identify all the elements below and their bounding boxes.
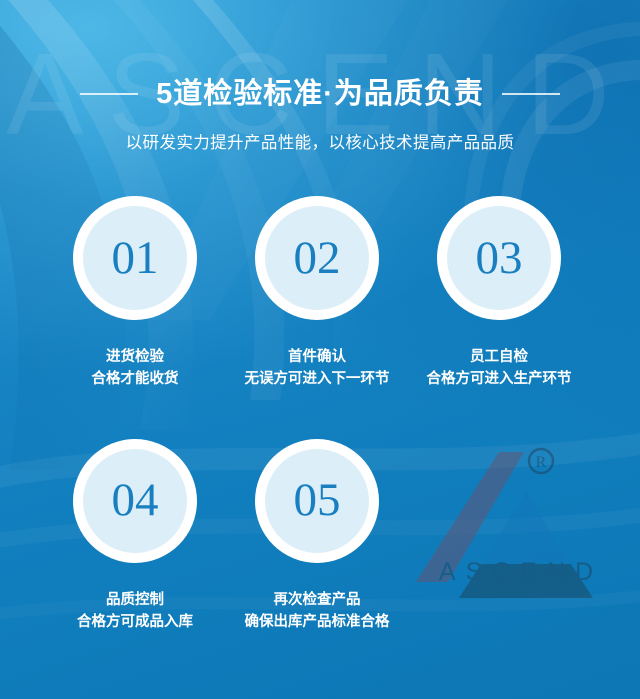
promo-poster: ASCEND 5道检验标准·为品质负责 以研发实力提升产品性能，以核心技术提高产… [0, 0, 640, 699]
title-row: 5道检验标准·为品质负责 [0, 72, 640, 116]
step-label-line1-03: 员工自检 [470, 349, 528, 365]
step-circle-03: 03 [437, 196, 561, 320]
step-label-02: 首件确认 无误方可进入下一环节 [245, 346, 390, 391]
step-circle-05: 05 [255, 439, 379, 563]
step-label-line2-05: 确保出库产品标准合格 [245, 611, 390, 633]
step-circle-inner-04: 04 [83, 449, 187, 553]
steps-grid: 01 进货检验 合格才能收货 02 首件确认 无误方可进入下一环节 [0, 196, 640, 634]
step-circle-04: 04 [73, 439, 197, 563]
step-item-05: 05 再次检查产品 确保出库产品标准合格 [226, 439, 408, 634]
step-circle-01: 01 [73, 196, 197, 320]
steps-row-2: 04 品质控制 合格方可成品入库 05 再次检查产品 确保出库产品标准合格 [0, 439, 640, 634]
step-label-line1-04: 品质控制 [106, 592, 164, 608]
header: 5道检验标准·为品质负责 以研发实力提升产品性能，以核心技术提高产品品质 [0, 0, 640, 153]
step-label-line2-02: 无误方可进入下一环节 [245, 368, 390, 390]
step-label-04: 品质控制 合格方可成品入库 [77, 589, 193, 634]
step-item-04: 04 品质控制 合格方可成品入库 [44, 439, 226, 634]
title-rule-left-icon [80, 93, 138, 95]
step-number-01: 01 [112, 235, 159, 282]
step-number-05: 05 [294, 477, 341, 524]
title-rule-right-icon [502, 93, 560, 95]
step-label-line1-05: 再次检查产品 [274, 592, 361, 608]
step-label-line2-01: 合格才能收货 [92, 368, 179, 390]
step-circle-inner-05: 05 [265, 449, 369, 553]
page-subtitle: 以研发实力提升产品性能，以核心技术提高产品品质 [0, 129, 640, 153]
step-label-line2-04: 合格方可成品入库 [77, 611, 193, 633]
step-circle-inner-01: 01 [83, 206, 187, 310]
step-label-line2-03: 合格方可进入生产环节 [427, 368, 572, 390]
step-number-02: 02 [294, 235, 341, 282]
steps-row-1: 01 进货检验 合格才能收货 02 首件确认 无误方可进入下一环节 [0, 196, 640, 391]
step-circle-inner-02: 02 [265, 206, 369, 310]
step-number-04: 04 [112, 477, 159, 524]
step-circle-inner-03: 03 [447, 206, 551, 310]
step-item-03: 03 员工自检 合格方可进入生产环节 [408, 196, 590, 391]
step-label-01: 进货检验 合格才能收货 [92, 346, 179, 391]
step-circle-02: 02 [255, 196, 379, 320]
step-label-line1-02: 首件确认 [288, 349, 346, 365]
page-title: 5道检验标准·为品质负责 [156, 80, 484, 109]
step-item-02: 02 首件确认 无误方可进入下一环节 [226, 196, 408, 391]
step-label-03: 员工自检 合格方可进入生产环节 [427, 346, 572, 391]
step-number-03: 03 [476, 235, 523, 282]
step-label-05: 再次检查产品 确保出库产品标准合格 [245, 589, 390, 634]
step-item-01: 01 进货检验 合格才能收货 [44, 196, 226, 391]
step-label-line1-01: 进货检验 [106, 349, 164, 365]
